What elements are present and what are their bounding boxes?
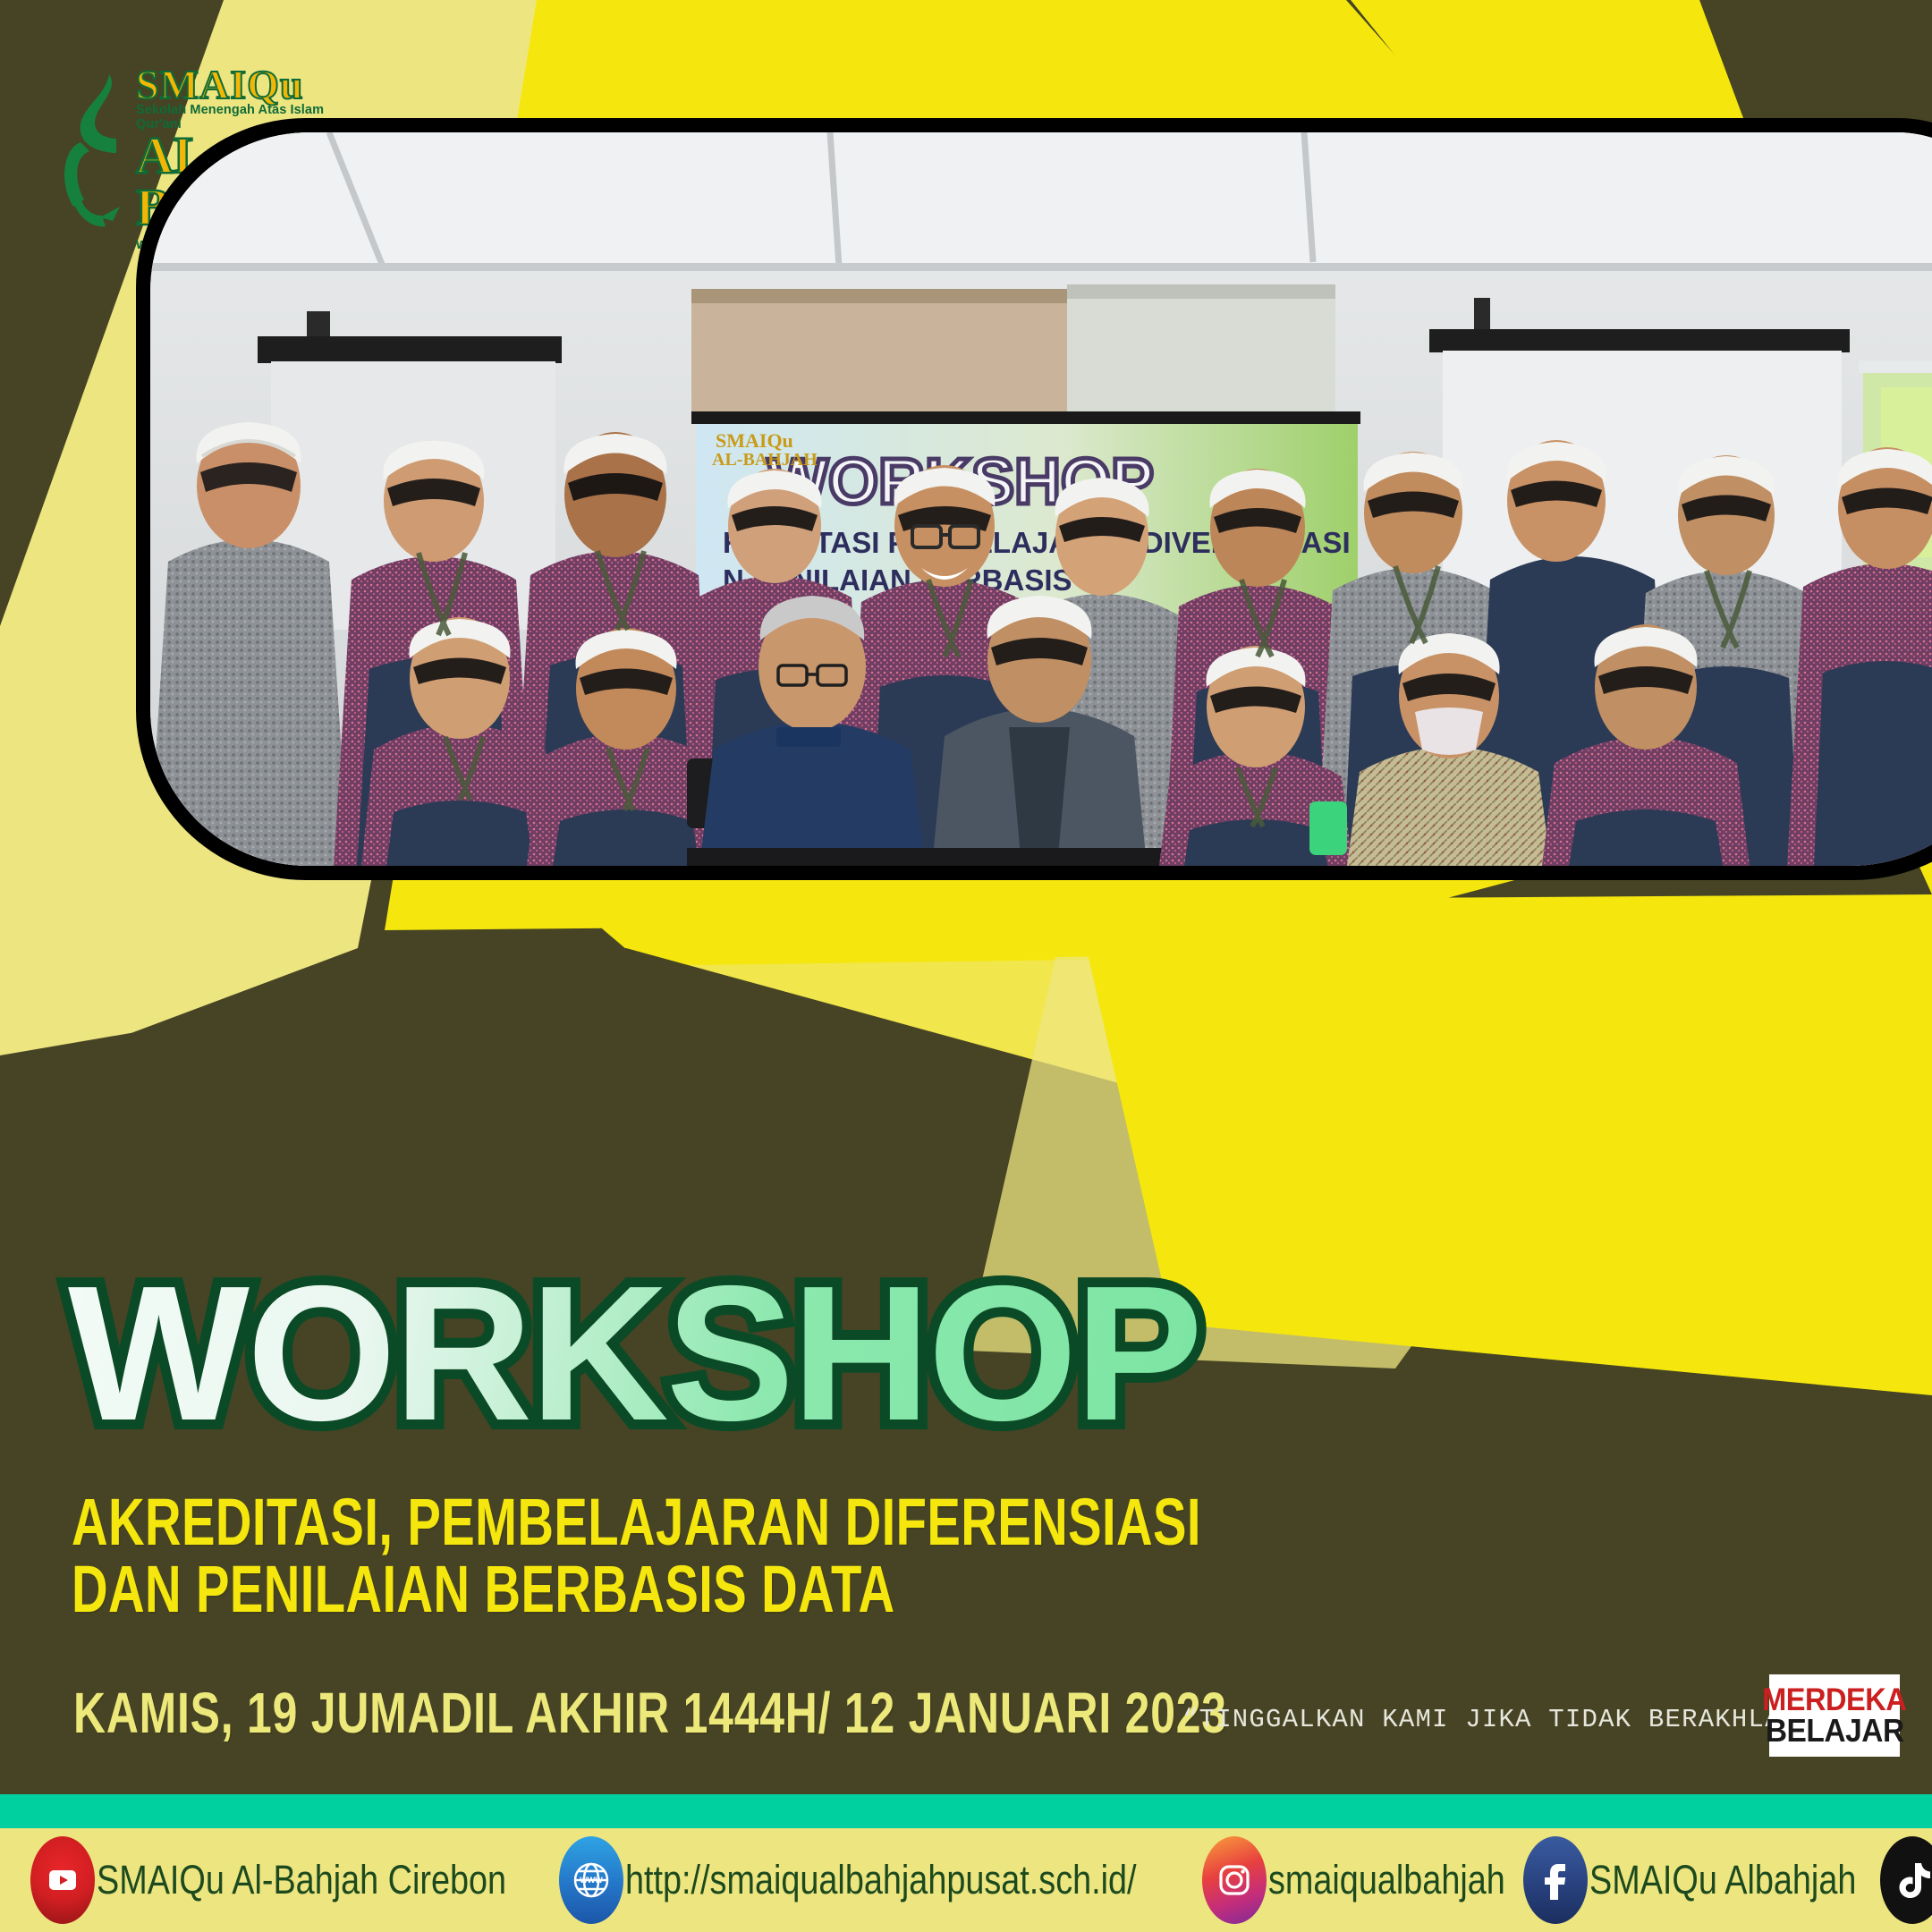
instagram-icon[interactable] [1202,1836,1267,1924]
group-photo-illustration: WORKSHOP KREDITASI PEMBELAJARAN DIVERENS… [150,132,1932,866]
page-title-fill: WORKSHOP [68,1245,1200,1461]
event-date: KAMIS, 19 JUMADIL AKHIR 1444H/ 12 JANUAR… [73,1680,1227,1746]
footer-label-instagram: smaiqualbahjah [1268,1857,1505,1903]
youtube-icon[interactable] [30,1836,95,1924]
svg-text:SMAIQu: SMAIQu [716,429,793,452]
svg-text:AL-BAHJAH: AL-BAHJAH [712,450,818,470]
teal-divider [0,1794,1932,1828]
social-footer: SMAIQu Al-Bahjah Cirebon WWW http://smai… [0,1828,1932,1932]
footer-label-youtube: SMAIQu Al-Bahjah Cirebon [97,1857,506,1903]
subtitle-line-2: DAN PENILAIAN BERBASIS DATA [72,1555,1201,1623]
footer-item-instagram[interactable]: smaiqualbahjah [1202,1836,1550,1924]
group-photo: WORKSHOP KREDITASI PEMBELAJARAN DIVERENS… [150,132,1932,866]
footer-item-youtube[interactable]: SMAIQu Al-Bahjah Cirebon [30,1836,584,1924]
footer-item-website[interactable]: WWW http://smaiqualbahjahpusat.sch.id/ [559,1836,1233,1924]
footer-label-facebook: SMAIQu Albahjah [1589,1857,1856,1903]
subtitle: AKREDITASI, PEMBELAJARAN DIFERENSIASI DA… [72,1488,1201,1623]
footer-item-tiktok[interactable]: @smaiqualbahjahpusat [1880,1836,1932,1924]
website-icon[interactable]: WWW [559,1836,623,1924]
merdeka-belajar-badge: MERDEKA BELAJAR [1769,1674,1900,1757]
page-title: WORKSHOP WORKSHOP [68,1257,1200,1449]
bright-yellow-headline-wedge [1082,926,1932,1395]
subtitle-line-1: AKREDITASI, PEMBELAJARAN DIFERENSIASI [72,1488,1201,1555]
poster-canvas: SMAIQu Sekolah Menengah Atas Islam Qur'a… [0,0,1932,1932]
group-photo-frame: WORKSHOP KREDITASI PEMBELAJARAN DIVERENS… [136,118,1932,880]
svg-text:WWW: WWW [580,1876,604,1885]
tiktok-icon[interactable] [1880,1836,1932,1924]
logo-name: SMAIQu [136,64,351,105]
footer-item-facebook[interactable]: SMAIQu Albahjah [1523,1836,1907,1924]
footer-label-website: http://smaiqualbahjahpusat.sch.id/ [625,1857,1137,1903]
facebook-icon[interactable] [1523,1836,1588,1924]
merdeka-line-2: BELAJAR [1766,1716,1904,1746]
motto-quote: “TINGGALKAN KAMI JIKA TIDAK BERAKHLAK” [1182,1705,1815,1734]
